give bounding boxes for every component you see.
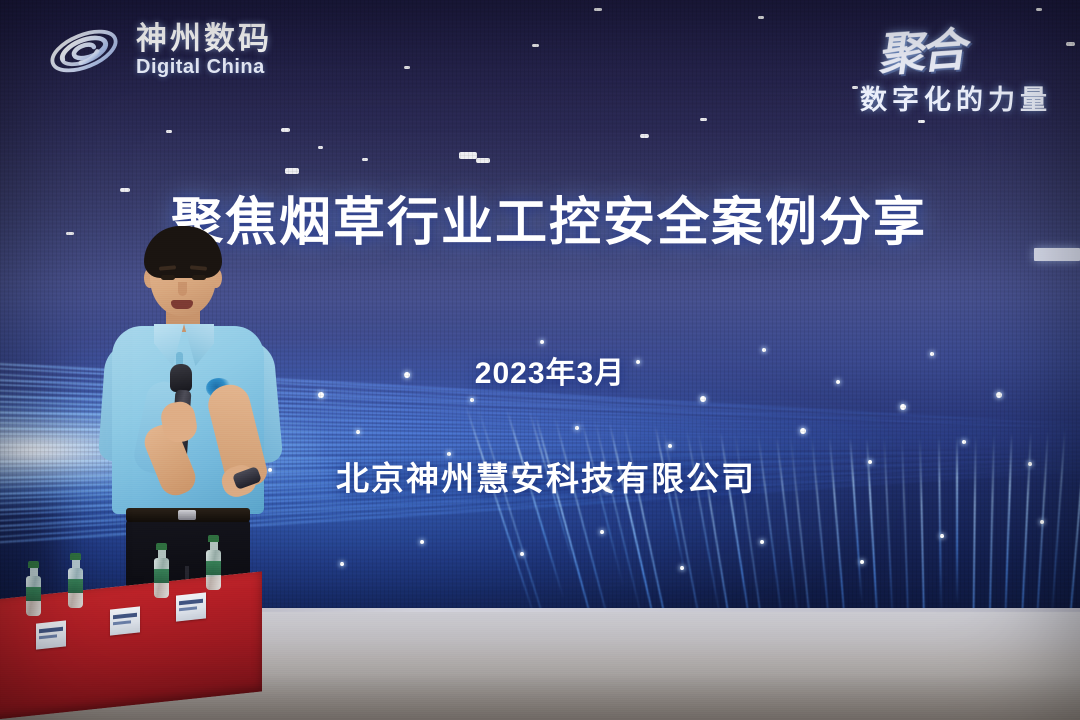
light-particle	[760, 540, 764, 544]
bottle-body	[68, 568, 83, 608]
digital-china-swirl-icon	[46, 20, 122, 82]
digital-china-wordmark: 神州数码 Digital China	[136, 23, 272, 79]
bottle-cap	[28, 561, 39, 568]
light-particle	[800, 428, 806, 434]
bottle-neck	[158, 550, 166, 558]
bottle-cap	[208, 535, 219, 542]
light-particle	[680, 566, 684, 570]
bottle-label	[68, 579, 83, 593]
light-particle	[1040, 520, 1044, 524]
water-bottle	[68, 553, 83, 608]
water-bottle	[154, 543, 169, 598]
bottle-neck	[30, 568, 38, 576]
bottle-neck	[210, 542, 218, 550]
bottle-cap	[156, 543, 167, 550]
light-fleck	[640, 134, 649, 138]
light-particle	[996, 392, 1002, 398]
light-particle	[470, 398, 474, 402]
light-fleck	[532, 44, 539, 47]
light-fleck	[318, 146, 323, 149]
light-particle	[962, 440, 966, 444]
light-fleck	[362, 158, 368, 161]
light-particle	[520, 552, 524, 556]
slide-accent-bar	[1034, 248, 1080, 261]
digital-china-logo: 神州数码 Digital China	[46, 20, 272, 82]
light-fleck	[459, 152, 477, 159]
digital-china-chinese-name: 神州数码	[136, 23, 272, 54]
light-fleck	[281, 128, 290, 132]
speaker-mouth	[171, 300, 193, 309]
name-card	[36, 620, 66, 649]
bottle-label	[26, 587, 41, 601]
light-particle	[356, 430, 360, 434]
light-fleck	[285, 168, 299, 174]
speaker-nose	[178, 282, 187, 296]
bottle-label	[206, 561, 221, 575]
light-particle	[340, 562, 344, 566]
bottle-body	[154, 558, 169, 598]
light-fleck	[758, 16, 764, 19]
bottle-body	[206, 550, 221, 590]
water-bottle	[26, 561, 41, 616]
bottle-neck	[72, 560, 80, 568]
event-calligraphy-mark: 聚合	[877, 13, 971, 85]
light-particle	[940, 534, 944, 538]
water-bottle	[206, 535, 221, 590]
light-fleck	[1036, 8, 1042, 11]
light-fleck	[594, 8, 602, 11]
light-particle	[700, 396, 706, 402]
light-fleck	[700, 118, 707, 121]
light-particle	[540, 340, 544, 344]
speaker-left-eye	[161, 275, 175, 280]
name-card	[176, 592, 206, 621]
light-particle	[575, 426, 579, 430]
bottle-cap	[70, 553, 81, 560]
speaker-person	[96, 226, 286, 616]
digital-china-english-name: Digital China	[136, 57, 272, 77]
light-particle	[900, 404, 906, 410]
light-fleck	[1066, 42, 1075, 46]
bottle-body	[26, 576, 41, 616]
light-particle	[668, 444, 672, 448]
light-particle	[318, 392, 324, 398]
speaker-belt-buckle	[178, 510, 196, 520]
foreground-table	[0, 570, 270, 720]
light-particle	[860, 560, 864, 564]
speaker-hair	[144, 226, 222, 278]
event-logo: 聚合 数字化的力量	[860, 16, 1052, 117]
light-fleck	[404, 66, 410, 69]
microphone-head	[170, 364, 192, 392]
light-fleck	[166, 130, 172, 133]
speaker-right-eye	[192, 275, 206, 280]
bottle-label	[154, 569, 169, 583]
light-fleck	[476, 158, 490, 163]
light-fleck	[852, 86, 858, 89]
light-particle	[600, 530, 604, 534]
name-card	[110, 606, 140, 635]
light-particle	[420, 540, 424, 544]
conference-stage-photo: 神州数码 Digital China 聚合 数字化的力量 聚焦烟草行业工控安全案…	[0, 0, 1080, 720]
light-fleck	[918, 120, 925, 123]
